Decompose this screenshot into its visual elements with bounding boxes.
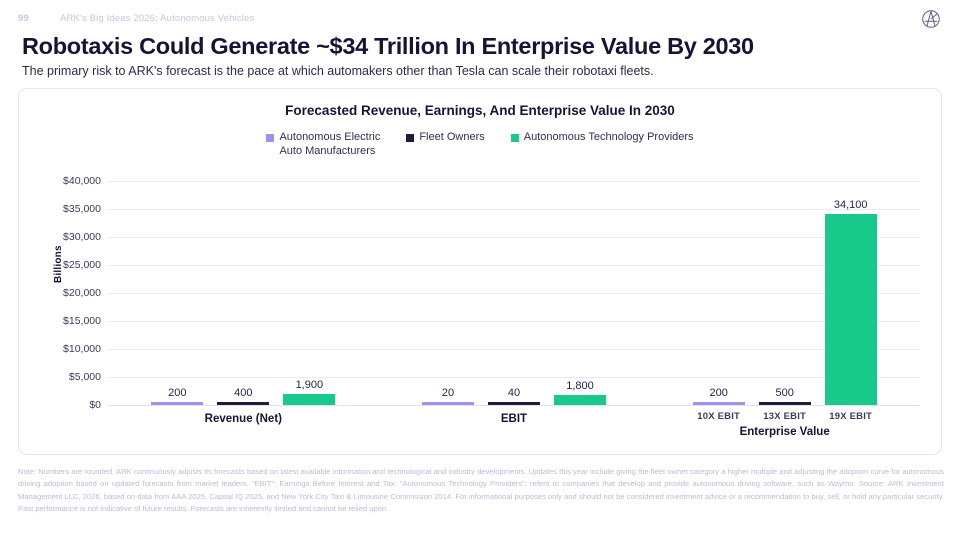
bar[interactable]: 34,10019X EBIT [825, 214, 877, 405]
legend-label: Autonomous Technology Providers [524, 131, 694, 145]
page-number: 99 [18, 13, 60, 24]
bar-group-1: 20401,800EBIT [379, 181, 650, 405]
y-axis-tick: $30,000 [63, 231, 101, 243]
slide-header: 99 ARK's Big Ideas 2026: Autonomous Vehi… [18, 8, 942, 28]
legend-swatch-icon [406, 134, 414, 142]
bar[interactable]: 40 [488, 402, 540, 405]
chart-card: Forecasted Revenue, Earnings, And Enterp… [18, 88, 942, 455]
slide-page: 99 ARK's Big Ideas 2026: Autonomous Vehi… [0, 0, 960, 536]
y-axis-tick: $25,000 [63, 259, 101, 271]
x-axis-group-label: Revenue (Net) [205, 413, 282, 425]
y-axis-tick: $10,000 [63, 343, 101, 355]
legend-item-1[interactable]: Fleet Owners [406, 131, 484, 145]
y-axis-tick: $0 [89, 399, 101, 411]
legend-label: Autonomous Electric Auto Manufacturers [279, 131, 380, 159]
page-title: Robotaxis Could Generate ~$34 Trillion I… [22, 33, 754, 60]
legend-swatch-icon [266, 134, 274, 142]
bar-value-label: 1,900 [296, 379, 324, 391]
bar[interactable]: 50013X EBIT [759, 402, 811, 405]
y-axis-tick: $40,000 [63, 175, 101, 187]
bar-value-label: 20 [442, 387, 454, 399]
legend-swatch-icon [511, 134, 519, 142]
bar-sub-label: 19X EBIT [829, 411, 872, 422]
bar[interactable]: 20010X EBIT [693, 402, 745, 405]
legend-item-2[interactable]: Autonomous Technology Providers [511, 131, 694, 145]
bar-value-label: 40 [508, 387, 520, 399]
bar-value-label: 34,100 [834, 199, 868, 211]
bar-value-label: 200 [709, 387, 727, 399]
x-axis-group-label: EBIT [501, 413, 527, 425]
chart-title: Forecasted Revenue, Earnings, And Enterp… [19, 103, 941, 118]
page-subtitle: The primary risk to ARK's forecast is th… [22, 64, 654, 78]
gridline: $0 [108, 405, 920, 406]
bar-value-label: 400 [234, 387, 252, 399]
bar-value-label: 1,800 [566, 380, 594, 392]
bar[interactable]: 200 [151, 402, 203, 405]
legend-item-0[interactable]: Autonomous Electric Auto Manufacturers [266, 131, 380, 159]
bar[interactable]: 20 [422, 402, 474, 405]
bar-group-2: 20010X EBIT50013X EBIT34,10019X EBITEnte… [649, 181, 920, 405]
bar-sub-label: 13X EBIT [763, 411, 806, 422]
bar-sub-label: 10X EBIT [697, 411, 740, 422]
y-axis-tick: $35,000 [63, 203, 101, 215]
bar-value-label: 500 [775, 387, 793, 399]
breadcrumb: ARK's Big Ideas 2026: Autonomous Vehicle… [60, 13, 254, 24]
x-axis-group-label: Enterprise Value [740, 426, 830, 438]
bar-value-label: 200 [168, 387, 186, 399]
legend-label: Fleet Owners [419, 131, 484, 145]
chart-plot-area: Billions $40,000$35,000$30,000$25,000$20… [19, 171, 943, 456]
chart-bars: 2004001,900Revenue (Net)20401,800EBIT200… [108, 181, 920, 405]
ark-invest-logo-icon [920, 8, 942, 30]
chart-legend: Autonomous Electric Auto ManufacturersFl… [19, 131, 941, 159]
bar-group-0: 2004001,900Revenue (Net) [108, 181, 379, 405]
bar[interactable]: 1,900 [283, 394, 335, 405]
y-axis-tick: $5,000 [69, 371, 101, 383]
footnote-disclaimer: Note: Numbers are rounded. ARK continuou… [18, 466, 944, 515]
y-axis-tick: $15,000 [63, 315, 101, 327]
bar[interactable]: 1,800 [554, 395, 606, 405]
bar[interactable]: 400 [217, 402, 269, 405]
y-axis-tick: $20,000 [63, 287, 101, 299]
